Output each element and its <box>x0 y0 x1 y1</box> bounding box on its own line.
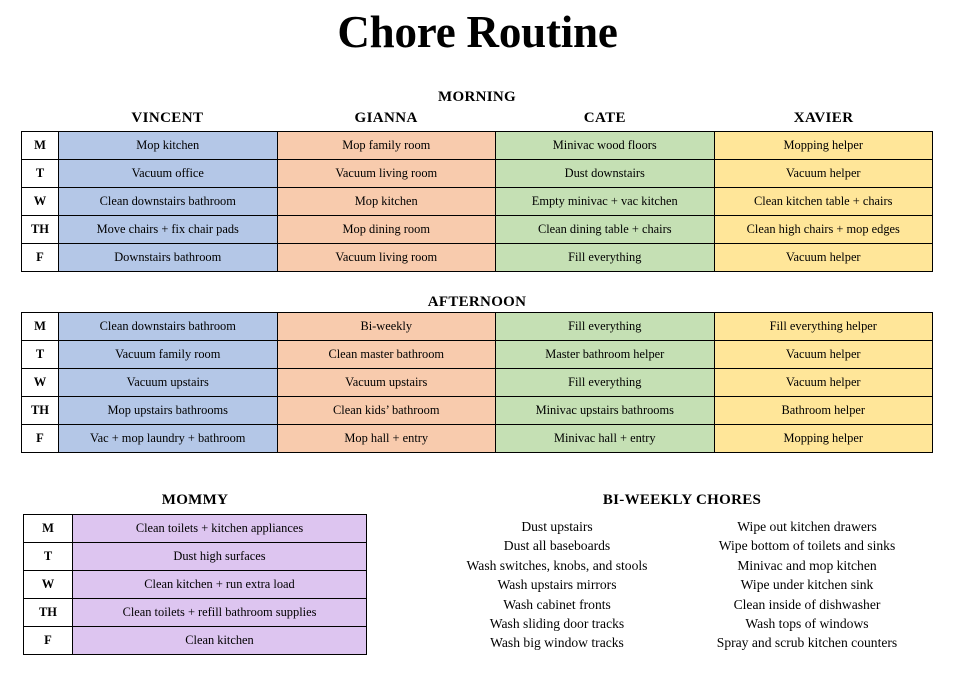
chore-cell-gianna: Mop family room <box>277 132 496 160</box>
day-label: F <box>24 627 73 655</box>
chore-cell-gianna: Mop kitchen <box>277 188 496 216</box>
chore-cell-xavier: Fill everything helper <box>714 313 933 341</box>
chore-cell-mommy: Clean toilets + refill bathroom supplies <box>73 599 367 627</box>
chore-cell-vincent: Clean downstairs bathroom <box>59 188 278 216</box>
table-row: F Clean kitchen <box>24 627 367 655</box>
chore-cell-gianna: Bi-weekly <box>277 313 496 341</box>
list-item: Wash cabinet fronts <box>432 595 682 614</box>
day-label: M <box>22 313 59 341</box>
chore-cell-vincent: Clean downstairs bathroom <box>59 313 278 341</box>
list-item: Wipe out kitchen drawers <box>682 517 932 536</box>
chore-cell-vincent: Move chairs + fix chair pads <box>59 216 278 244</box>
day-label: TH <box>24 599 73 627</box>
chore-cell-gianna: Clean master bathroom <box>277 341 496 369</box>
biweekly-section-heading: BI-WEEKLY CHORES <box>432 492 932 509</box>
day-label: M <box>24 515 73 543</box>
table-row: W Clean kitchen + run extra load <box>24 571 367 599</box>
list-item: Wipe bottom of toilets and sinks <box>682 536 932 555</box>
mommy-schedule-table: M Clean toilets + kitchen appliances T D… <box>23 514 367 655</box>
afternoon-section-heading: AFTERNOON <box>21 294 933 311</box>
list-item: Minivac and mop kitchen <box>682 556 932 575</box>
person-column-headers: VINCENT GIANNA CATE XAVIER <box>58 110 933 127</box>
day-label: F <box>22 244 59 272</box>
list-item: Wash switches, knobs, and stools <box>432 556 682 575</box>
list-item: Wash sliding door tracks <box>432 614 682 633</box>
table-row: T Dust high surfaces <box>24 543 367 571</box>
day-label: M <box>22 132 59 160</box>
list-item: Wash tops of windows <box>682 614 932 633</box>
table-row: M Mop kitchen Mop family room Minivac wo… <box>22 132 933 160</box>
chore-cell-gianna: Vacuum living room <box>277 160 496 188</box>
table-row: M Clean downstairs bathroom Bi-weekly Fi… <box>22 313 933 341</box>
list-item: Spray and scrub kitchen counters <box>682 633 932 652</box>
chore-cell-xavier: Vacuum helper <box>714 244 933 272</box>
chore-cell-cate: Fill everything <box>496 313 715 341</box>
chore-routine-page: Chore Routine MORNING VINCENT GIANNA CAT… <box>0 0 955 673</box>
day-label: TH <box>22 216 59 244</box>
chore-cell-gianna: Vacuum living room <box>277 244 496 272</box>
chore-cell-xavier: Mopping helper <box>714 132 933 160</box>
day-label: W <box>22 369 59 397</box>
table-row: TH Clean toilets + refill bathroom suppl… <box>24 599 367 627</box>
table-row: F Downstairs bathroom Vacuum living room… <box>22 244 933 272</box>
chore-cell-mommy: Dust high surfaces <box>73 543 367 571</box>
table-row: M Clean toilets + kitchen appliances <box>24 515 367 543</box>
list-item: Wash upstairs mirrors <box>432 575 682 594</box>
chore-cell-cate: Fill everything <box>496 369 715 397</box>
chore-cell-vincent: Vacuum office <box>59 160 278 188</box>
chore-cell-cate: Minivac upstairs bathrooms <box>496 397 715 425</box>
person-header-gianna: GIANNA <box>277 110 496 127</box>
list-item: Dust upstairs <box>432 517 682 536</box>
table-row: TH Mop upstairs bathrooms Clean kids’ ba… <box>22 397 933 425</box>
day-label: T <box>24 543 73 571</box>
day-label: W <box>22 188 59 216</box>
chore-cell-gianna: Mop dining room <box>277 216 496 244</box>
chore-cell-gianna: Vacuum upstairs <box>277 369 496 397</box>
chore-cell-xavier: Vacuum helper <box>714 160 933 188</box>
chore-cell-gianna: Mop hall + entry <box>277 425 496 453</box>
chore-cell-mommy: Clean kitchen + run extra load <box>73 571 367 599</box>
day-label: T <box>22 341 59 369</box>
chore-cell-xavier: Bathroom helper <box>714 397 933 425</box>
mommy-section-heading: MOMMY <box>23 492 367 509</box>
chore-cell-vincent: Vac + mop laundry + bathroom <box>59 425 278 453</box>
chore-cell-mommy: Clean toilets + kitchen appliances <box>73 515 367 543</box>
chore-cell-xavier: Vacuum helper <box>714 341 933 369</box>
page-title: Chore Routine <box>0 6 955 58</box>
afternoon-schedule-table: M Clean downstairs bathroom Bi-weekly Fi… <box>21 312 933 453</box>
chore-cell-vincent: Mop kitchen <box>59 132 278 160</box>
chore-cell-xavier: Vacuum helper <box>714 369 933 397</box>
table-row: W Vacuum upstairs Vacuum upstairs Fill e… <box>22 369 933 397</box>
chore-cell-vincent: Downstairs bathroom <box>59 244 278 272</box>
biweekly-column-left: Dust upstairs Dust all baseboards Wash s… <box>432 517 682 653</box>
list-item: Dust all baseboards <box>432 536 682 555</box>
table-row: T Vacuum family room Clean master bathro… <box>22 341 933 369</box>
chore-cell-vincent: Vacuum family room <box>59 341 278 369</box>
day-label: F <box>22 425 59 453</box>
list-item: Wash big window tracks <box>432 633 682 652</box>
chore-cell-cate: Master bathroom helper <box>496 341 715 369</box>
chore-cell-xavier: Mopping helper <box>714 425 933 453</box>
chore-cell-mommy: Clean kitchen <box>73 627 367 655</box>
chore-cell-vincent: Vacuum upstairs <box>59 369 278 397</box>
chore-cell-vincent: Mop upstairs bathrooms <box>59 397 278 425</box>
chore-cell-cate: Dust downstairs <box>496 160 715 188</box>
table-row: W Clean downstairs bathroom Mop kitchen … <box>22 188 933 216</box>
table-row: F Vac + mop laundry + bathroom Mop hall … <box>22 425 933 453</box>
chore-cell-cate: Minivac hall + entry <box>496 425 715 453</box>
chore-cell-cate: Empty minivac + vac kitchen <box>496 188 715 216</box>
person-header-vincent: VINCENT <box>58 110 277 127</box>
chore-cell-cate: Clean dining table + chairs <box>496 216 715 244</box>
day-label: W <box>24 571 73 599</box>
chore-cell-cate: Minivac wood floors <box>496 132 715 160</box>
biweekly-column-right: Wipe out kitchen drawers Wipe bottom of … <box>682 517 932 653</box>
table-row: TH Move chairs + fix chair pads Mop dini… <box>22 216 933 244</box>
table-row: T Vacuum office Vacuum living room Dust … <box>22 160 933 188</box>
list-item: Clean inside of dishwasher <box>682 595 932 614</box>
day-label: T <box>22 160 59 188</box>
chore-cell-xavier: Clean kitchen table + chairs <box>714 188 933 216</box>
person-header-cate: CATE <box>496 110 715 127</box>
list-item: Wipe under kitchen sink <box>682 575 932 594</box>
morning-schedule-table: M Mop kitchen Mop family room Minivac wo… <box>21 131 933 272</box>
biweekly-chores-lists: Dust upstairs Dust all baseboards Wash s… <box>432 517 932 653</box>
chore-cell-xavier: Clean high chairs + mop edges <box>714 216 933 244</box>
day-label: TH <box>22 397 59 425</box>
person-header-xavier: XAVIER <box>714 110 933 127</box>
morning-section-heading: MORNING <box>21 89 933 106</box>
chore-cell-gianna: Clean kids’ bathroom <box>277 397 496 425</box>
chore-cell-cate: Fill everything <box>496 244 715 272</box>
